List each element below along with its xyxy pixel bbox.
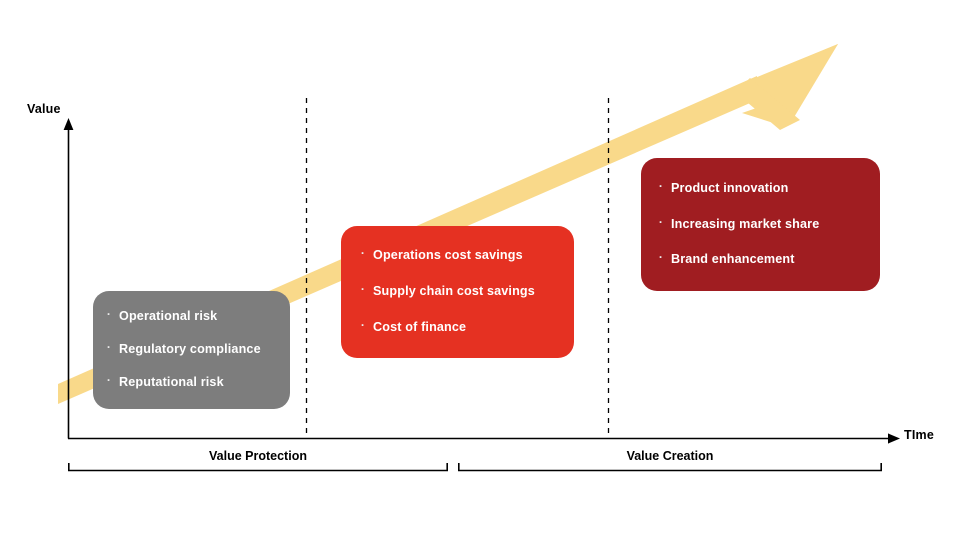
bullet-icon: · (353, 319, 373, 332)
list-item-label: Brand enhancement (671, 253, 795, 267)
list-item: · Reputational risk (93, 376, 290, 390)
list-item-label: Reputational risk (119, 376, 224, 390)
x-axis (68, 433, 900, 443)
list-item-label: Product innovation (671, 182, 788, 196)
stage-card-value-creation[interactable]: · Product innovation · Increasing market… (641, 158, 880, 291)
bracket-value-protection (69, 463, 447, 471)
list-item: · Operational risk (93, 310, 290, 324)
bracket-value-creation (459, 463, 881, 471)
list-item-label: Supply chain cost savings (373, 285, 535, 299)
y-axis-label: Value (27, 102, 61, 116)
list-item: · Product innovation (641, 182, 880, 196)
list-item: · Cost of finance (341, 321, 574, 335)
list-item-label: Operational risk (119, 310, 217, 324)
list-item-label: Operations cost savings (373, 249, 523, 263)
bullet-icon: · (99, 374, 119, 387)
list-item-label: Regulatory compliance (119, 343, 261, 357)
list-item-label: Cost of finance (373, 321, 466, 335)
bullet-icon: · (353, 247, 373, 260)
list-item: · Brand enhancement (641, 253, 880, 267)
bullet-icon: · (99, 308, 119, 321)
list-item: · Supply chain cost savings (341, 285, 574, 299)
x-axis-label: TIme (904, 428, 934, 442)
list-item-label: Increasing market share (671, 218, 819, 232)
stage-card-value-optimisation[interactable]: · Operations cost savings · Supply chain… (341, 226, 574, 358)
bullet-icon: · (651, 180, 671, 193)
bullet-icon: · (353, 283, 373, 296)
segment-label-value-creation: Value Creation (458, 449, 882, 463)
list-item: · Regulatory compliance (93, 343, 290, 357)
segment-label-value-protection: Value Protection (68, 449, 448, 463)
bullet-icon: · (99, 341, 119, 354)
list-item: · Operations cost savings (341, 249, 574, 263)
stage-card-value-protection[interactable]: · Operational risk · Regulatory complian… (93, 291, 290, 409)
bullet-icon: · (651, 251, 671, 264)
bullet-icon: · (651, 216, 671, 229)
list-item: · Increasing market share (641, 218, 880, 232)
diagram-canvas: Value TIme · Operational risk · Regulato… (0, 0, 960, 540)
